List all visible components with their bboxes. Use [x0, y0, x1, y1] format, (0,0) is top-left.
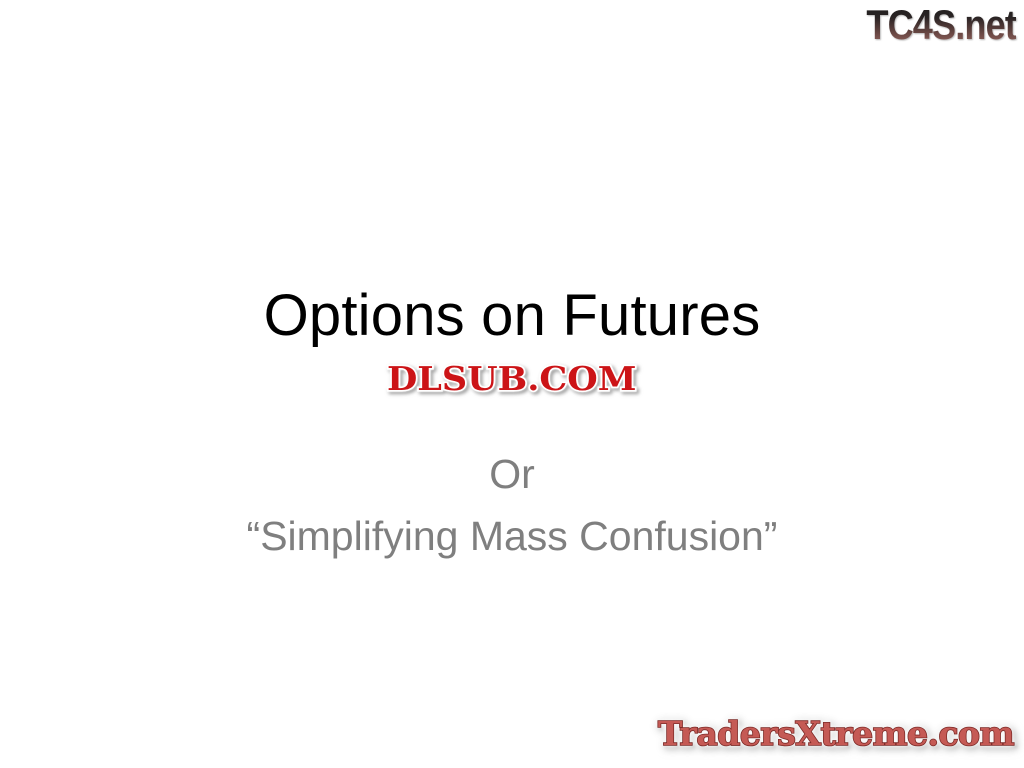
watermark-dlsub-logo: DLSUB.COM [387, 359, 636, 399]
subtitle-placeholder: Or “Simplifying Mass Confusion” [0, 443, 1024, 568]
watermark-tradersxtreme-logo: TradersXtreme.com [658, 714, 1014, 754]
subtitle-line-1: Or [0, 443, 1024, 505]
presentation-slide: TC4S.net Options on Futures DLSUB.COM Or… [0, 0, 1024, 768]
page-title: Options on Futures [0, 286, 1024, 347]
subtitle-line-2: “Simplifying Mass Confusion” [0, 505, 1024, 567]
watermark-dlsub-container: DLSUB.COM [0, 359, 1024, 399]
watermark-tc4s-logo: TC4S.net [866, 2, 1016, 48]
title-placeholder: Options on Futures [0, 286, 1024, 347]
